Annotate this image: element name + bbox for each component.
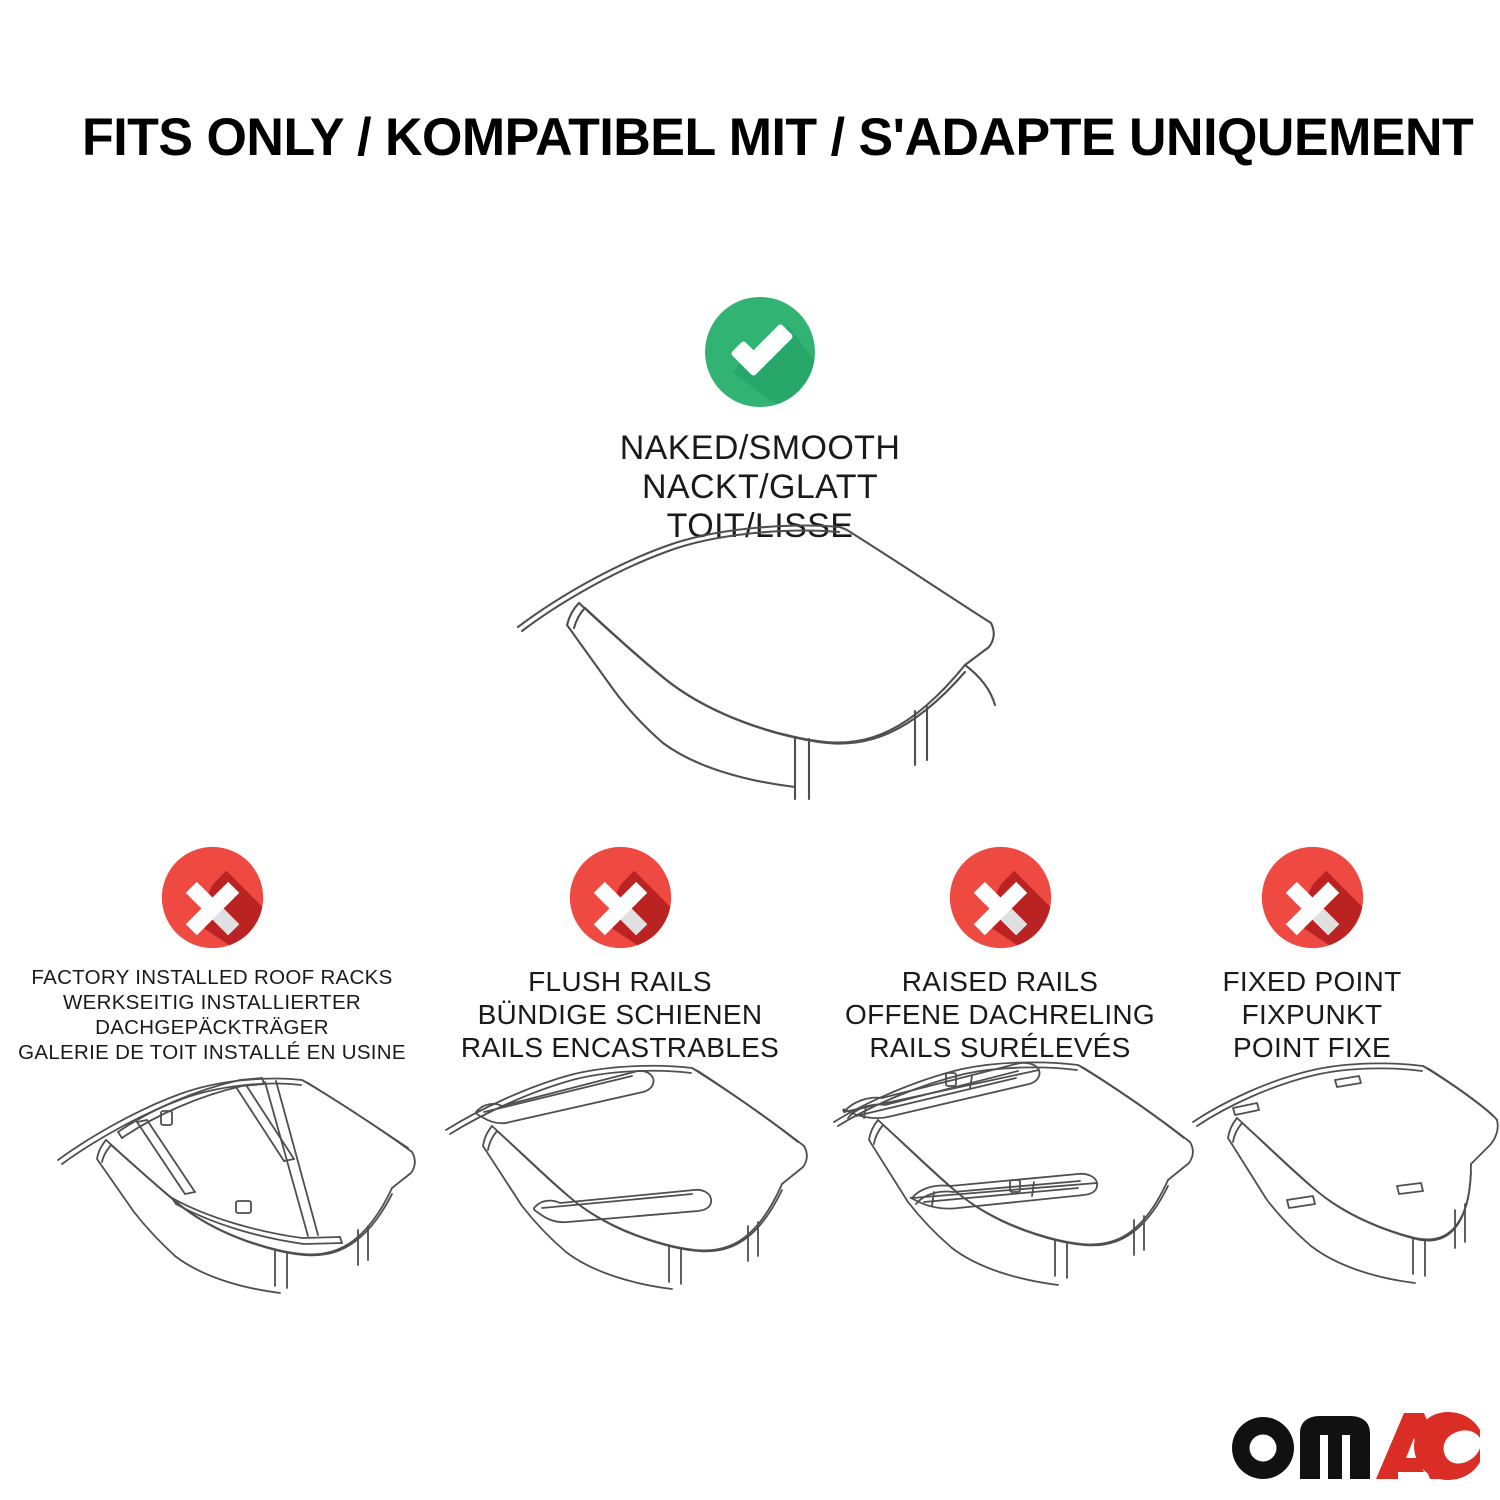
col-1-icon-wrap (432, 845, 808, 953)
col-1-caption: FLUSH RAILS BÜNDIGE SCHIENEN RAILS ENCAS… (432, 965, 808, 1064)
car-roof-fixed-point-illustration (1185, 1060, 1500, 1295)
check-circle-icon (703, 295, 817, 409)
incompatible-column-factory-racks: FACTORY INSTALLED ROOF RACKS WERKSEITIG … (12, 845, 412, 1065)
col-3-icon-wrap (1160, 845, 1464, 953)
col-3-caption: FIXED POINT FIXPUNKT POINT FIXE (1160, 965, 1464, 1064)
car-roof-factory-racks-illustration (40, 1060, 440, 1295)
col-2-caption-de: OFFENE DACHRELING (812, 998, 1188, 1031)
compatible-caption-de: NACKT/GLATT (500, 468, 1020, 507)
car-roof-naked-smooth-illustration (495, 515, 1035, 805)
col-2-caption-en: RAISED RAILS (812, 965, 1188, 998)
cross-circle-icon (948, 845, 1053, 950)
compatible-block: NAKED/SMOOTH NACKT/GLATT TOIT/LISSE (500, 295, 1020, 546)
logo-letter-c (1414, 1412, 1480, 1480)
col-2-caption: RAISED RAILS OFFENE DACHRELING RAILS SUR… (812, 965, 1188, 1064)
compatible-caption-en: NAKED/SMOOTH (500, 429, 1020, 468)
incompatible-column-flush-rails: FLUSH RAILS BÜNDIGE SCHIENEN RAILS ENCAS… (432, 845, 808, 1064)
incompatible-column-fixed-point: FIXED POINT FIXPUNKT POINT FIXE (1160, 845, 1464, 1064)
col-3-caption-en: FIXED POINT (1160, 965, 1464, 998)
cross-circle-icon (160, 845, 265, 950)
page-title: FITS ONLY / KOMPATIBEL MIT / S'ADAPTE UN… (82, 106, 1395, 170)
col-2-icon-wrap (812, 845, 1188, 953)
incompatible-column-raised-rails: RAISED RAILS OFFENE DACHRELING RAILS SUR… (812, 845, 1188, 1064)
omac-logo (1232, 1408, 1480, 1480)
col-0-caption: FACTORY INSTALLED ROOF RACKS WERKSEITIG … (12, 965, 412, 1065)
col-0-caption-de-2: DACHGEPÄCKTRÄGER (12, 1015, 412, 1040)
col-1-caption-de: BÜNDIGE SCHIENEN (432, 998, 808, 1031)
col-0-caption-en: FACTORY INSTALLED ROOF RACKS (12, 965, 412, 990)
cross-circle-icon (1260, 845, 1365, 950)
col-3-caption-de: FIXPUNKT (1160, 998, 1464, 1031)
cross-circle-icon (568, 845, 673, 950)
logo-letter-m (1300, 1416, 1370, 1479)
car-roof-raised-rails-illustration (820, 1060, 1220, 1295)
col-0-caption-de-1: WERKSEITIG INSTALLIERTER (12, 990, 412, 1015)
fitment-infographic: FITS ONLY / KOMPATIBEL MIT / S'ADAPTE UN… (0, 0, 1500, 1500)
car-roof-flush-rails-illustration (432, 1060, 828, 1295)
col-1-caption-en: FLUSH RAILS (432, 965, 808, 998)
logo-letter-o (1232, 1417, 1294, 1479)
col-0-icon-wrap (12, 845, 412, 953)
